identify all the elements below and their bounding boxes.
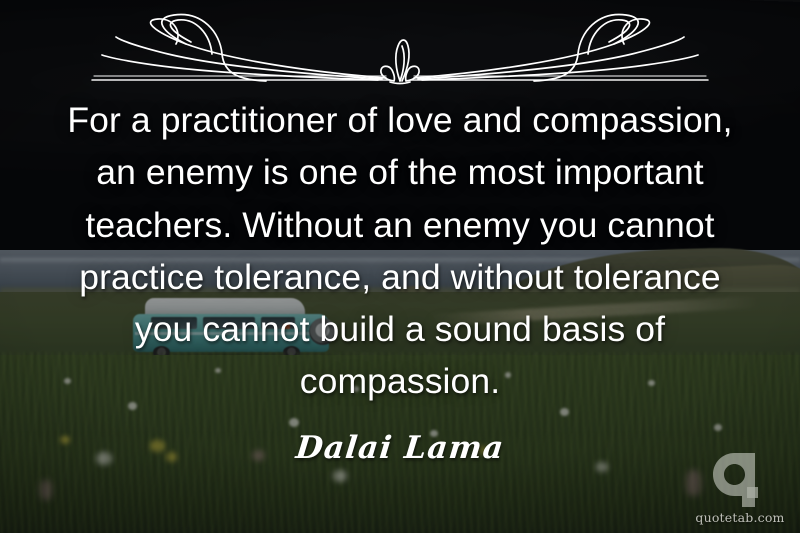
flourish-divider-icon xyxy=(90,10,710,88)
card-content: For a practitioner of love and compassio… xyxy=(0,0,800,533)
quotetab-q-logo-icon[interactable] xyxy=(711,451,769,509)
quote-card: For a practitioner of love and compassio… xyxy=(0,0,800,533)
watermark[interactable]: quotetab.com xyxy=(694,451,786,525)
quote-text: For a practitioner of love and compassio… xyxy=(50,94,750,408)
quote-author: Dalai Lama xyxy=(294,430,506,466)
watermark-url[interactable]: quotetab.com xyxy=(695,510,784,525)
